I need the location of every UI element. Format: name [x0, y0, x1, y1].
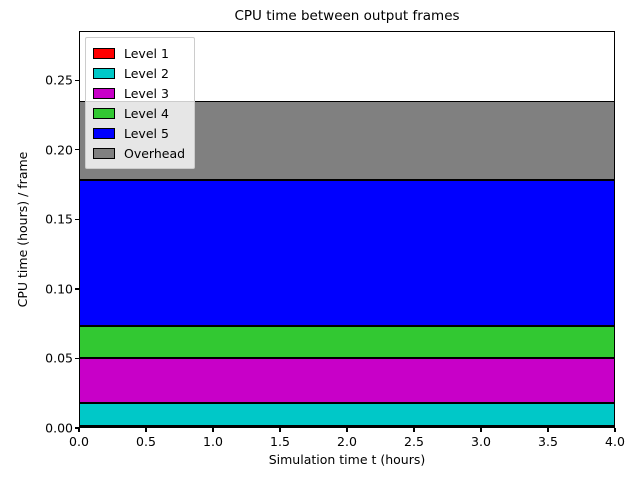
x-tick-label: 0.5	[136, 434, 156, 449]
legend-swatch-icon	[93, 148, 115, 159]
x-tick-label: 3.5	[538, 434, 558, 449]
legend-swatch-icon	[93, 108, 115, 119]
legend-swatch-icon	[93, 88, 115, 99]
legend-label: Level 1	[124, 46, 169, 61]
x-tick-label: 0.0	[69, 434, 89, 449]
y-tick-label: 0.25	[45, 73, 73, 88]
legend-swatch-icon	[93, 68, 115, 79]
y-tick-label: 0.20	[45, 142, 73, 157]
x-tick-label: 1.5	[270, 434, 290, 449]
legend-label: Overhead	[124, 146, 185, 161]
legend-item[interactable]: Level 1	[93, 43, 185, 63]
legend-swatch-icon	[93, 48, 115, 59]
legend-label: Level 2	[124, 66, 169, 81]
x-tick-mark	[145, 428, 146, 432]
y-tick-label: 0.10	[45, 281, 73, 296]
legend-item[interactable]: Level 2	[93, 63, 185, 83]
matplotlib-figure: CPU time between output frames 0.000.050…	[0, 0, 640, 480]
x-tick-mark	[279, 428, 280, 432]
x-tick-mark	[212, 428, 213, 432]
legend-item[interactable]: Level 5	[93, 123, 185, 143]
x-tick-label: 2.5	[404, 434, 424, 449]
x-tick-mark	[480, 428, 481, 432]
legend-label: Level 4	[124, 106, 169, 121]
y-axis-label: CPU time (hours) / frame	[14, 31, 32, 428]
x-tick-label: 2.0	[337, 434, 357, 449]
x-tick-label: 4.0	[605, 434, 625, 449]
legend-item[interactable]: Overhead	[93, 143, 185, 163]
y-tick-label: 0.05	[45, 351, 73, 366]
x-tick-mark	[78, 428, 79, 432]
legend-label: Level 5	[124, 126, 169, 141]
legend-item[interactable]: Level 4	[93, 103, 185, 123]
x-tick-label: 3.0	[471, 434, 491, 449]
x-axis-label: Simulation time t (hours)	[79, 452, 615, 467]
y-tick-label: 0.15	[45, 212, 73, 227]
x-tick-mark	[413, 428, 414, 432]
x-tick-mark	[346, 428, 347, 432]
chart-title: CPU time between output frames	[79, 8, 615, 24]
x-tick-mark	[547, 428, 548, 432]
chart-legend: Level 1Level 2Level 3Level 4Level 5Overh…	[85, 37, 195, 169]
legend-swatch-icon	[93, 128, 115, 139]
x-tick-mark	[614, 428, 615, 432]
legend-item[interactable]: Level 3	[93, 83, 185, 103]
x-tick-label: 1.0	[203, 434, 223, 449]
legend-label: Level 3	[124, 86, 169, 101]
